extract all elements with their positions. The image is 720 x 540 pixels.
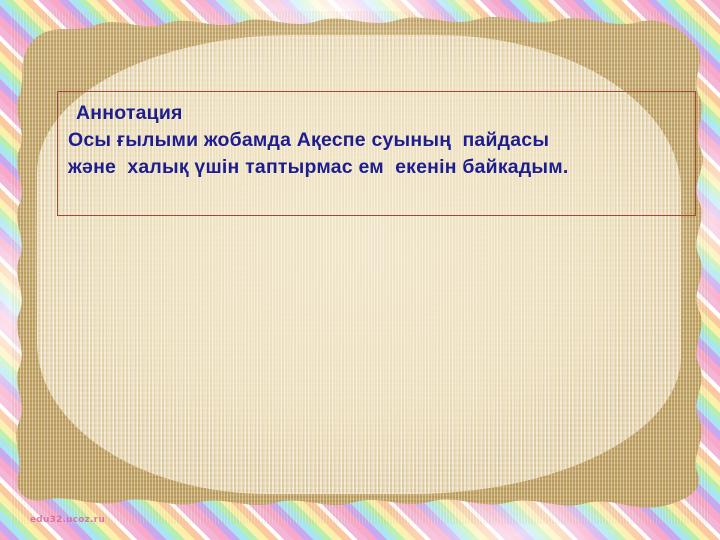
- annotation-body-line-2: және халық үшін таптырмас ем екенін байк…: [68, 154, 685, 181]
- slide-canvas: Аннотация Осы ғылыми жобамда Ақеспе суын…: [0, 0, 720, 540]
- annotation-body-line-1: Осы ғылыми жобамда Ақеспе суының пайдасы: [68, 127, 685, 154]
- site-watermark: edu32.ucoz.ru: [30, 515, 105, 525]
- annotation-title: Аннотация: [68, 100, 685, 127]
- parchment-paper: [11, 11, 709, 524]
- annotation-text-box: Аннотация Осы ғылыми жобамда Ақеспе суын…: [57, 91, 696, 216]
